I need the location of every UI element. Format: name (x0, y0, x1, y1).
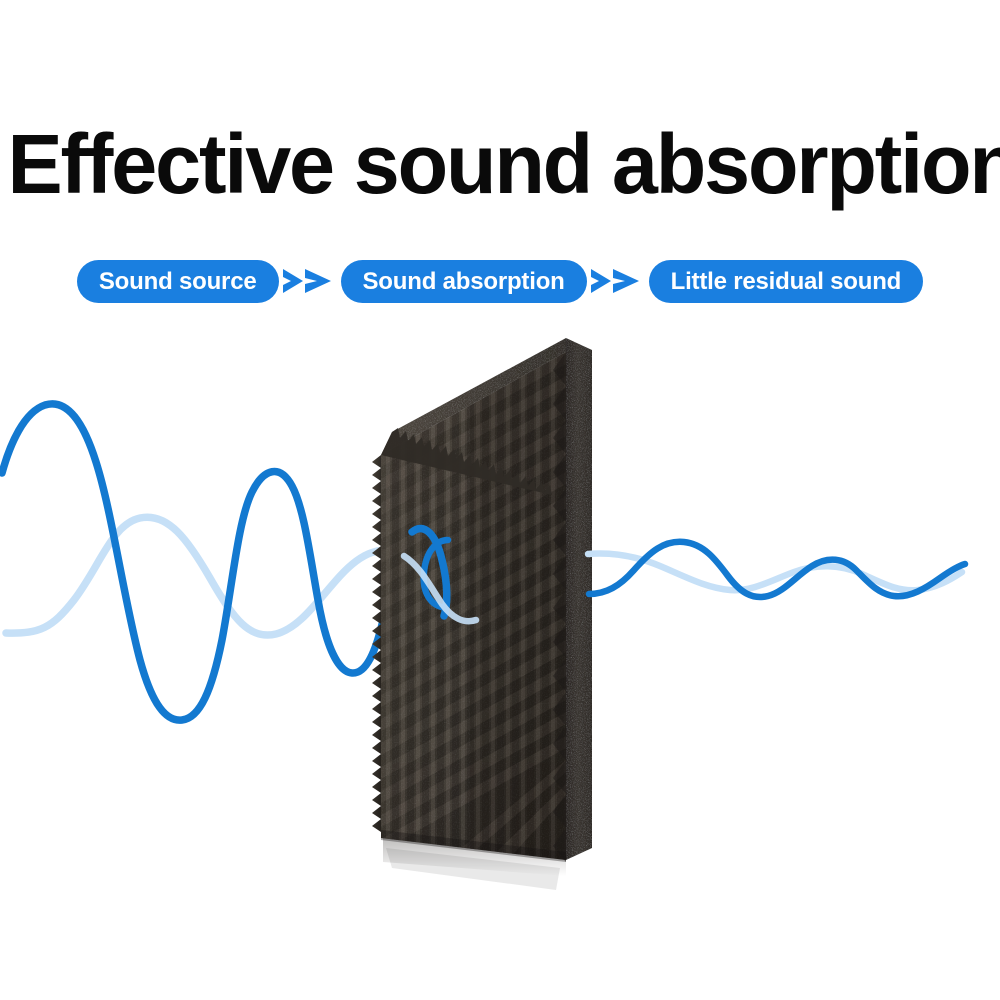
acoustic-foam-panel (372, 330, 592, 890)
infographic-canvas: Effective sound absorption Sound source … (0, 0, 1000, 1000)
foam-side-edge (566, 338, 592, 860)
sound-absorption-illustration (0, 0, 1000, 1000)
foam-eggcrate-rows (375, 330, 575, 890)
